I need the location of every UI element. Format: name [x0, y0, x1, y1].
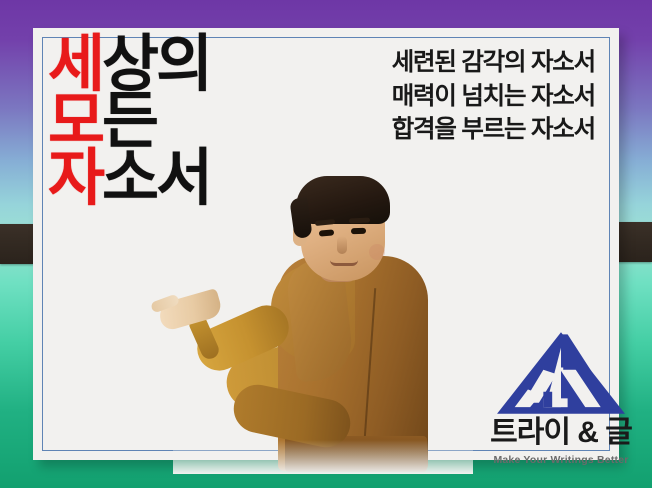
tagline-line-3: 합격을 부르는 자소서	[392, 113, 595, 147]
triangle-logo-icon	[477, 330, 645, 416]
photo-mouth	[330, 260, 358, 266]
headline-line-3: 자소서	[48, 150, 210, 207]
tagline-line-2: 매력이 넘치는 자소서	[392, 80, 595, 114]
headline-rest-3: 소서	[102, 144, 210, 213]
headline-accent-3: 자	[48, 144, 102, 213]
brand-tagline: Make Your Writings Better	[477, 454, 645, 466]
brand-name: 트라이 & 글	[477, 418, 645, 448]
banner-canvas: 세상의 모든 자소서 세련된 감각의 자소서 매력이 넘치는 자소서 합격을 부…	[0, 0, 652, 488]
photo-bottom-fade	[173, 440, 473, 474]
headline-line-1: 세상의	[48, 36, 210, 93]
photo-nose	[337, 236, 347, 254]
tagline-block: 세련된 감각의 자소서 매력이 넘치는 자소서 합격을 부르는 자소서	[392, 46, 595, 147]
headline-line-2: 모든	[48, 93, 210, 150]
photo-cheek	[369, 244, 385, 260]
brand-logo: 트라이 & 글 Make Your Writings Better	[477, 330, 645, 470]
photo-eye-right	[351, 228, 366, 235]
tagline-line-1: 세련된 감각의 자소서	[392, 46, 595, 80]
presenter-photo	[173, 178, 473, 468]
page-title: 세상의 모든 자소서	[48, 36, 210, 207]
photo-hair	[296, 176, 390, 224]
poster-panel: 세상의 모든 자소서 세련된 감각의 자소서 매력이 넘치는 자소서 합격을 부…	[33, 28, 619, 460]
